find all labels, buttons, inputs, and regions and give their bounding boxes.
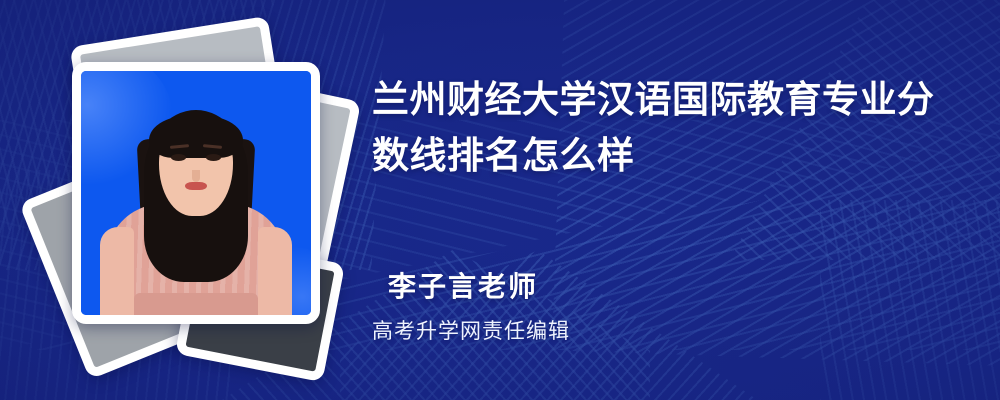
lips [185, 182, 207, 190]
eye-right [206, 154, 221, 161]
hair-fringe [149, 116, 243, 158]
nose [192, 170, 200, 182]
article-hero-banner: 兰州财经大学汉语国际教育专业分数线排名怎么样 李子言老师 高考升学网责任编辑 [0, 0, 1000, 400]
author-name: 李子言老师 [388, 270, 538, 304]
portrait-figure [81, 71, 311, 315]
banner-text-column: 兰州财经大学汉语国际教育专业分数线排名怎么样 李子言老师 高考升学网责任编辑 [372, 0, 972, 400]
dress-waist [134, 293, 258, 315]
article-headline: 兰州财经大学汉语国际教育专业分数线排名怎么样 [372, 72, 960, 184]
photo-card-stack [40, 24, 360, 374]
author-role: 高考升学网责任编辑 [372, 318, 570, 346]
editor-portrait-photo [72, 62, 320, 324]
eye-left [171, 154, 186, 161]
shoulder-left [100, 227, 134, 315]
shoulder-right [258, 227, 292, 315]
